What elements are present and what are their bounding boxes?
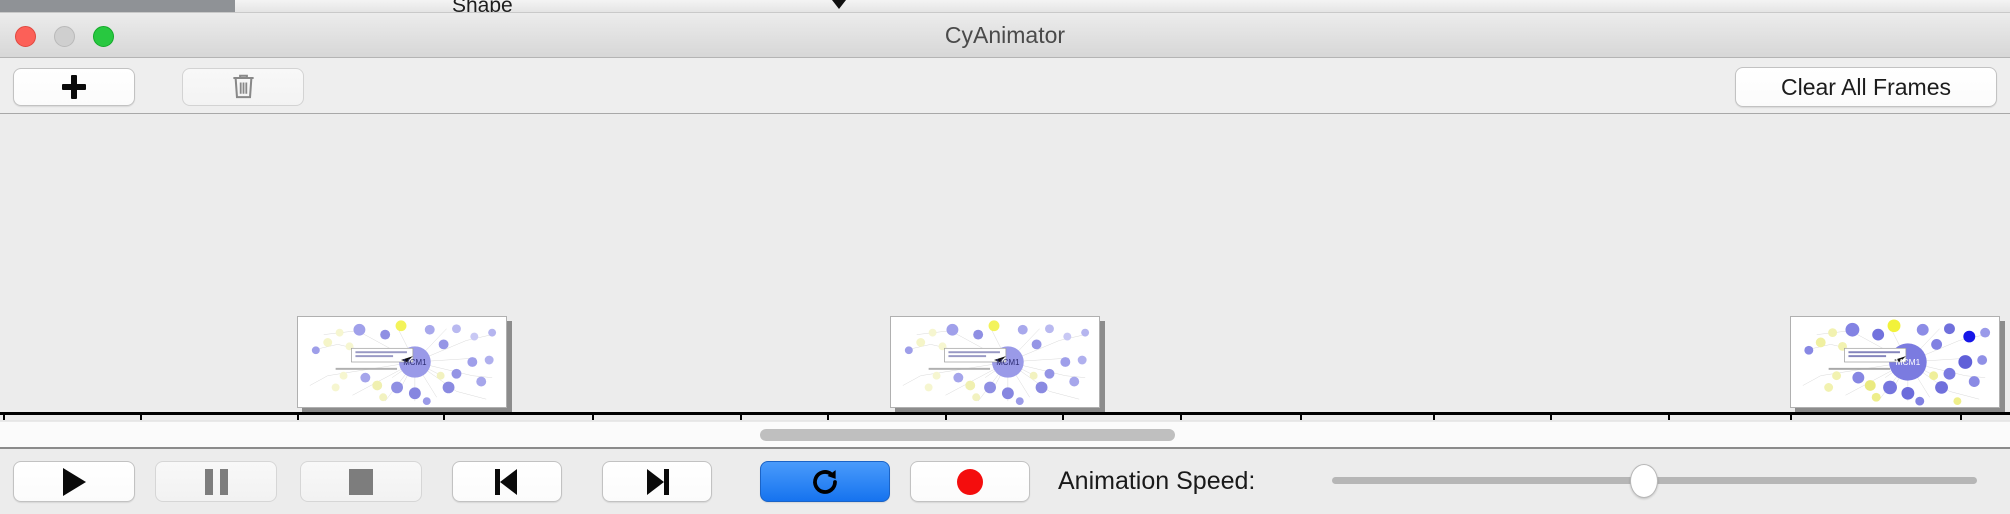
timeline-panel[interactable]: MCM1 [0, 114, 2010, 421]
play-button[interactable] [13, 461, 135, 502]
loop-icon [810, 467, 840, 497]
frame-thumbnail[interactable]: MCM1 [297, 316, 512, 412]
timeline-scrollbar[interactable] [0, 421, 2010, 447]
window-title: CyAnimator [0, 13, 2010, 57]
clear-all-frames-label: Clear All Frames [1781, 74, 1951, 101]
delete-frame-button[interactable] [182, 68, 304, 106]
play-icon [63, 468, 86, 496]
network-thumbnail-icon: MCM1 [1791, 317, 1999, 407]
record-icon [957, 469, 983, 495]
network-thumbnail-icon: MCM1 [891, 317, 1099, 407]
animation-speed-slider[interactable] [1332, 475, 1977, 483]
add-frame-button[interactable] [13, 68, 135, 106]
clear-all-frames-button[interactable]: Clear All Frames [1735, 67, 1997, 107]
skip-to-end-button[interactable] [602, 461, 712, 502]
network-thumbnail-icon: MCM1 [298, 317, 506, 407]
timeline-axis [0, 412, 2010, 420]
slider-thumb[interactable] [1630, 464, 1658, 498]
animation-speed-label: Animation Speed: [1058, 449, 1255, 514]
scrollbar-thumb[interactable] [760, 429, 1175, 441]
playback-control-bar: Animation Speed: [0, 447, 2010, 514]
loop-button[interactable] [760, 461, 890, 502]
stop-icon [349, 469, 373, 495]
frame-canvas: MCM1 [890, 316, 1100, 408]
record-button[interactable] [910, 461, 1030, 502]
cyanimator-window: CyAnimator Clear All Frames [0, 13, 2010, 510]
pause-icon [205, 469, 228, 495]
frame-thumbnail[interactable]: MCM1 [890, 316, 1105, 412]
skip-to-end-icon [645, 469, 669, 495]
background-window: Shape [0, 0, 2010, 14]
skip-to-start-icon [495, 469, 519, 495]
frames-layer: MCM1 [0, 114, 2010, 322]
title-bar: CyAnimator [0, 13, 2010, 58]
background-caret-icon [832, 0, 846, 9]
trash-icon [230, 72, 257, 102]
svg-text:MCM1: MCM1 [1895, 357, 1920, 367]
svg-text:MCM1: MCM1 [996, 358, 1019, 367]
pause-button[interactable] [155, 461, 277, 502]
frame-canvas: MCM1 [297, 316, 507, 408]
frame-thumbnail[interactable]: MCM1 [1790, 316, 2005, 412]
stop-button[interactable] [300, 461, 422, 502]
skip-to-start-button[interactable] [452, 461, 562, 502]
svg-text:MCM1: MCM1 [403, 358, 426, 367]
plus-icon [61, 74, 87, 100]
axis-line [0, 412, 2010, 415]
toolbar: Clear All Frames [0, 58, 2010, 114]
frame-canvas: MCM1 [1790, 316, 2000, 408]
